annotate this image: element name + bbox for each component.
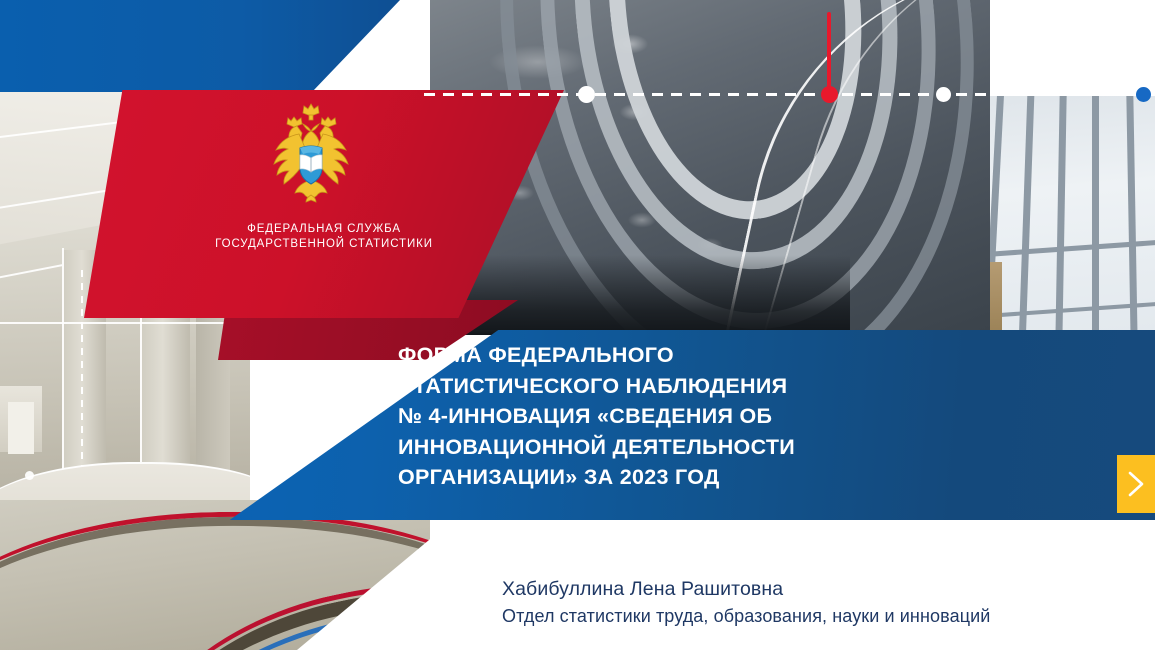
timeline-marker-blue	[1136, 87, 1151, 102]
title-line-2: СТАТИСТИЧЕСКОГО НАБЛЮДЕНИЯ	[398, 371, 958, 402]
author-block: Хабибуллина Лена Рашитовна Отдел статист…	[502, 576, 990, 629]
title-line-3: № 4-ИННОВАЦИЯ «СВЕДЕНИЯ ОБ	[398, 401, 958, 432]
title-line-4: ИННОВАЦИОННОЙ ДЕЯТЕЛЬНОСТИ	[398, 432, 958, 463]
title-line-1: ФОРМА ФЕДЕРАЛЬНОГО	[398, 340, 958, 371]
timeline-marker-red	[821, 86, 838, 103]
chevron-right-icon	[1125, 469, 1147, 499]
rosstat-emblem-icon	[267, 100, 355, 204]
organization-name: ФЕДЕРАЛЬНАЯ СЛУЖБА ГОСУДАРСТВЕННОЙ СТАТИ…	[184, 222, 464, 252]
presentation-slide: ФЕДЕРАЛЬНАЯ СЛУЖБА ГОСУДАРСТВЕННОЙ СТАТИ…	[0, 0, 1155, 650]
timeline-marker-white-1	[578, 86, 595, 103]
timeline-red-stem	[827, 12, 831, 94]
author-department: Отдел статистики труда, образования, нау…	[502, 603, 990, 629]
title-line-5: ОРГАНИЗАЦИИ» ЗА 2023 ГОД	[398, 462, 958, 493]
organization-name-line2: ГОСУДАРСТВЕННОЙ СТАТИСТИКИ	[184, 237, 464, 252]
author-name: Хабибуллина Лена Рашитовна	[502, 576, 990, 603]
dashed-timeline	[424, 93, 1155, 96]
next-slide-button[interactable]	[1117, 455, 1155, 513]
organization-name-line1: ФЕДЕРАЛЬНАЯ СЛУЖБА	[184, 222, 464, 237]
page-title: ФОРМА ФЕДЕРАЛЬНОГО СТАТИСТИЧЕСКОГО НАБЛЮ…	[398, 340, 958, 493]
timeline-marker-white-2	[936, 87, 951, 102]
